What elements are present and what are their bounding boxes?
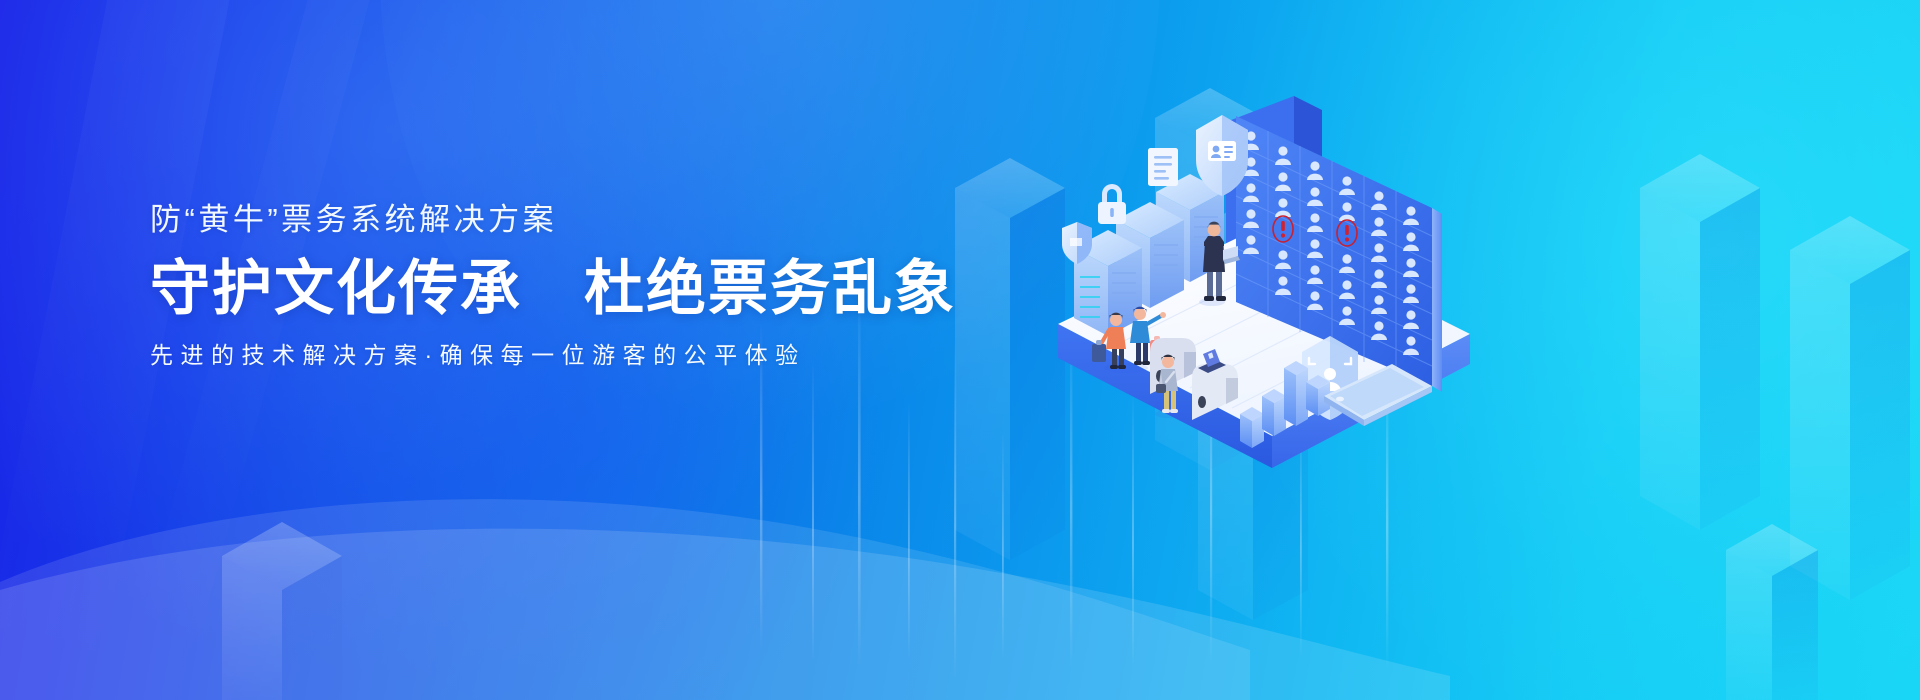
hero-illustration [1040, 96, 1520, 466]
iso-column-e [1790, 216, 1910, 600]
lock-icon [1098, 184, 1126, 224]
iso-column-d [1640, 154, 1760, 530]
bar [1262, 389, 1286, 436]
hero-copy: 防“黄牛”票务系统解决方案 守护文化传承 杜绝票务乱象 先进的技术解决方案·确保… [150, 204, 930, 367]
iso-column-g [1726, 524, 1818, 700]
bar [1284, 361, 1308, 426]
hero-headline: 守护文化传承 杜绝票务乱象 [150, 257, 930, 320]
hero-eyebrow: 防“黄牛”票务系统解决方案 [150, 204, 930, 235]
hero-subline: 先进的技术解决方案·确保每一位游客的公平体验 [150, 344, 930, 367]
bar [1240, 407, 1264, 448]
document-icon [1148, 148, 1178, 186]
hero-banner: 防“黄牛”票务系统解决方案 守护文化传承 杜绝票务乱象 先进的技术解决方案·确保… [0, 0, 1920, 700]
